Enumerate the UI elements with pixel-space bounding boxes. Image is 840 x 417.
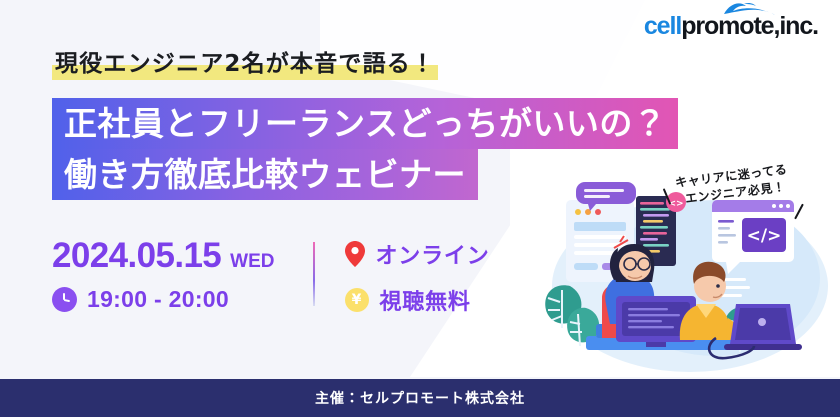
event-meta: オンライン ¥ 視聴無料	[315, 238, 490, 316]
company-logo: cellpromote,inc.	[644, 14, 818, 39]
swoosh-bird-icon	[722, 1, 776, 17]
event-location-row: オンライン	[345, 238, 490, 270]
event-time-row: 19:00 - 20:00	[52, 286, 275, 313]
event-date: 2024.05.15	[52, 238, 221, 273]
event-price: 視聴無料	[380, 284, 471, 316]
main-title-line-2: 働き方徹底比較ウェビナー	[52, 149, 478, 200]
event-date-row: 2024.05.15 WED	[52, 238, 275, 273]
footer-bar: 主催：セルプロモート株式会社	[0, 379, 840, 417]
event-time: 19:00 - 20:00	[87, 286, 229, 313]
main-title: 正社員とフリーランスどっちがいいの？ 働き方徹底比較ウェビナー	[52, 98, 678, 200]
dot-red-icon	[595, 209, 601, 215]
card-chip	[574, 263, 598, 270]
footer-organizer: 主催：セルプロモート株式会社	[315, 388, 525, 408]
yen-coin-icon: ¥	[345, 288, 369, 312]
logo-wordmark: cellpromote,inc.	[644, 14, 818, 39]
sub-headline-text: 現役エンジニア2名が本音で語る！	[52, 44, 438, 78]
event-day-of-week: WED	[230, 251, 274, 273]
dot-yellow-icon	[575, 209, 581, 215]
event-price-row: ¥ 視聴無料	[345, 284, 490, 316]
main-title-line-1: 正社員とフリーランスどっちがいいの？	[52, 98, 678, 149]
laptop	[724, 304, 802, 350]
card-line	[574, 222, 626, 231]
event-info: 2024.05.15 WED 19:00 - 20:00 オンライン ¥ 視聴無…	[52, 238, 490, 316]
sub-headline: 現役エンジニア2名が本音で語る！	[52, 44, 438, 78]
event-datetime: 2024.05.15 WED 19:00 - 20:00	[52, 238, 313, 313]
card-line	[574, 235, 626, 239]
logo-text-cell: cell	[644, 12, 681, 40]
svg-text:</>: </>	[747, 226, 782, 246]
clock-icon	[52, 287, 77, 312]
location-pin-icon	[345, 241, 365, 267]
webinar-banner: cellpromote,inc. 現役エンジニア2名が本音で語る！ 正社員とフリ…	[0, 0, 840, 417]
card-line	[574, 251, 614, 255]
event-location: オンライン	[376, 238, 490, 270]
